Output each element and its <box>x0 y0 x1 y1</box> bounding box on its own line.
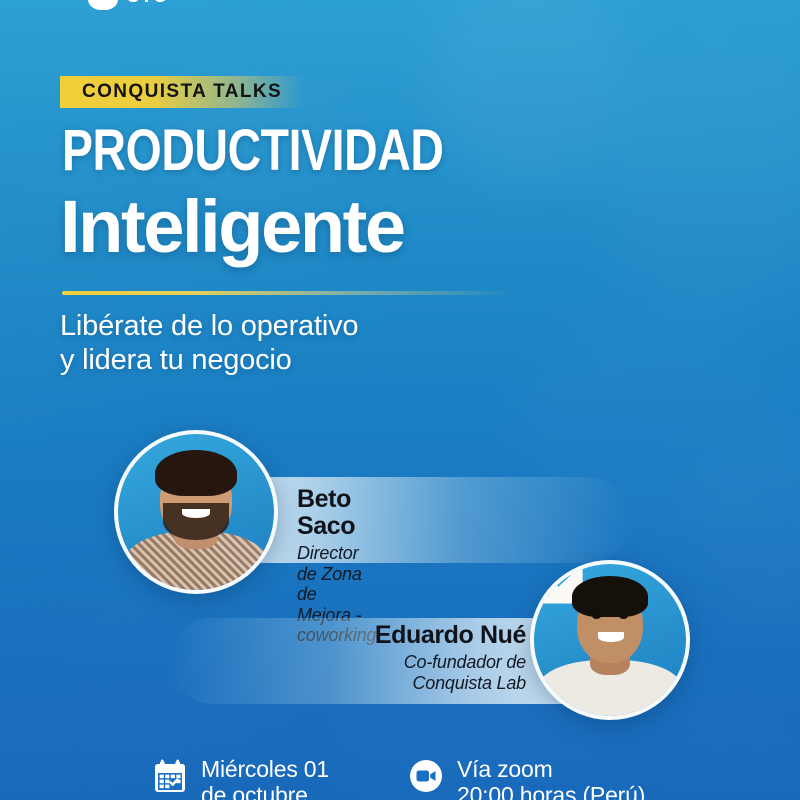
footer-platform-line-1: Vía zoom <box>457 756 645 782</box>
logo-mark-icon <box>88 0 118 10</box>
footer-platform-text: Vía zoom 20:00 horas (Perú) <box>457 756 645 800</box>
speaker-name-1: Beto Saco <box>297 486 376 540</box>
subtitle-line-2: y lidera tu negocio <box>60 344 520 378</box>
speaker-avatar-1 <box>114 430 278 594</box>
series-badge-label: CONQUISTA TALKS <box>82 81 282 103</box>
speaker-role-2-line-1: Co-fundador de <box>336 652 526 673</box>
footer-platform-block: Vía zoom 20:00 horas (Perú) <box>408 756 645 800</box>
footer-platform-line-2: 20:00 horas (Perú) <box>457 782 645 800</box>
calendar-icon <box>152 758 188 794</box>
video-camera-icon <box>408 758 444 794</box>
footer-date-line-2: de octubre <box>201 782 329 800</box>
speaker-avatar-2 <box>530 560 690 720</box>
headline-primary: PRODUCTIVIDAD <box>62 122 443 180</box>
accent-divider <box>62 291 512 295</box>
footer-date-block: Miércoles 01 de octubre <box>152 756 329 800</box>
speaker-role-1-line-1: Director de Zona de <box>297 543 376 605</box>
footer-date-text: Miércoles 01 de octubre <box>201 756 329 800</box>
subtitle-line-1: Libérate de lo operativo <box>60 310 520 344</box>
speaker-name-2: Eduardo Nué <box>336 622 526 649</box>
brand-logo: CTO <box>88 0 169 10</box>
speaker-info-2: Eduardo Nué Co-fundador de Conquista Lab <box>336 622 526 693</box>
speaker-role-2-line-2: Conquista Lab <box>336 673 526 694</box>
speaker-role-2: Co-fundador de Conquista Lab <box>336 652 526 693</box>
headline-secondary: Inteligente <box>60 190 404 264</box>
footer-date-line-1: Miércoles 01 <box>201 756 329 782</box>
series-badge: CONQUISTA TALKS <box>60 76 305 108</box>
logo-wordmark: CTO <box>126 0 169 8</box>
subtitle: Libérate de lo operativo y lidera tu neg… <box>60 310 520 378</box>
event-poster: CTO CONQUISTA TALKS PRODUCTIVIDAD Inteli… <box>0 0 800 800</box>
